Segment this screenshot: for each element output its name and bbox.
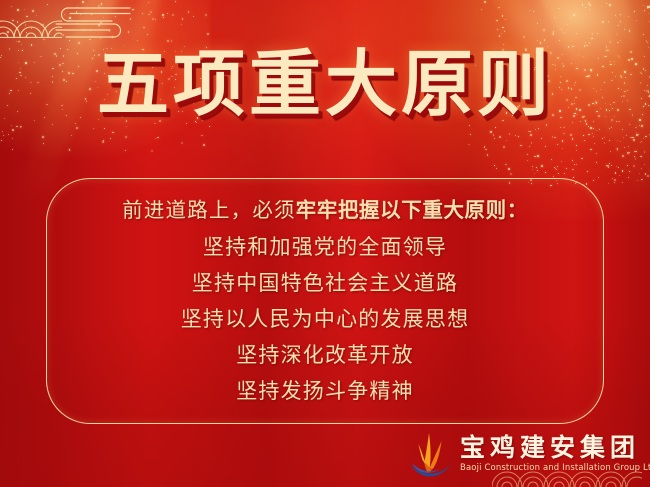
title-block: 五项重大原则 xyxy=(0,48,650,120)
lead-line-emphasis: 牢牢把握以下重大原则： xyxy=(296,198,528,222)
content-frame-inner: 前进道路上，必须牢牢把握以下重大原则： 坚持和加强党的全面领导 坚持中国特色社会… xyxy=(47,179,603,423)
lead-line-normal: 前进道路上，必须 xyxy=(122,198,296,222)
lead-line: 前进道路上，必须牢牢把握以下重大原则： xyxy=(122,195,528,225)
logo-wordmark: 宝鸡建安集团 Baoji Construction and Installati… xyxy=(460,435,650,474)
principle-item: 坚持和加强党的全面领导 xyxy=(203,232,447,262)
poster-canvas: 五项重大原则 前进道路上，必须牢牢把握以下重大原则： 坚持和加强党的全面领导 坚… xyxy=(0,0,650,487)
principle-item: 坚持深化改革开放 xyxy=(236,340,414,370)
principle-item: 坚持以人民为中心的发展思想 xyxy=(181,304,470,334)
principle-item: 坚持发扬斗争精神 xyxy=(236,376,414,406)
logo-sail-mark-icon xyxy=(404,428,456,480)
logo-name-cn: 宝鸡建安集团 xyxy=(460,435,650,461)
principle-item: 坚持中国特色社会主义道路 xyxy=(192,268,458,298)
content-frame: 前进道路上，必须牢牢把握以下重大原则： 坚持和加强党的全面领导 坚持中国特色社会… xyxy=(46,178,604,424)
poster-title: 五项重大原则 xyxy=(97,48,553,120)
logo-name-en: Baoji Construction and Installation Grou… xyxy=(460,463,650,473)
company-logo: 宝鸡建安集团 Baoji Construction and Installati… xyxy=(404,424,648,484)
